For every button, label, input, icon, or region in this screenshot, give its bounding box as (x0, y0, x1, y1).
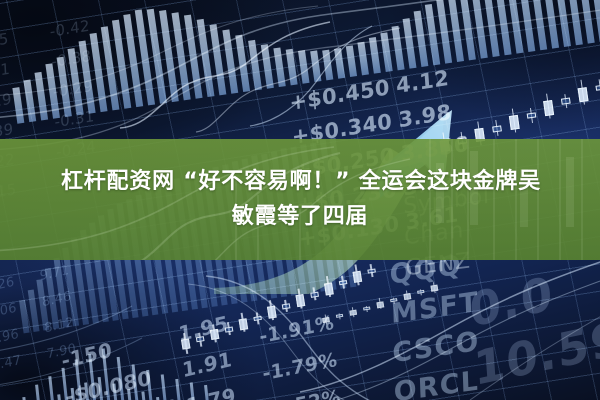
candlestick-body (363, 306, 370, 310)
candlestick-body (282, 303, 291, 309)
candlestick-body (267, 306, 277, 319)
candlestick-body (295, 294, 305, 307)
candlestick-body (527, 113, 537, 119)
candlestick-body (336, 314, 343, 318)
candlestick-body (349, 309, 357, 316)
candlestick-body (181, 339, 190, 350)
candlestick-body (253, 316, 262, 321)
candlestick-body (376, 301, 384, 308)
candlestick-body (578, 87, 589, 103)
candlestick-body (509, 115, 520, 130)
candlestick-body (390, 298, 397, 302)
headline-text-block: 杠杆配资网 “好不容易啊！” 全运会这块金牌吴 敏霞等了四届 (0, 139, 600, 260)
candlestick-body (403, 293, 411, 300)
candlestick-body (210, 329, 219, 340)
candlestick-body (322, 317, 330, 323)
candlestick-body (196, 337, 205, 343)
headline-line-1: 杠杆配资网 “好不容易啊！” 全运会这块金牌吴 (59, 168, 541, 196)
candlestick-body (543, 100, 554, 116)
stock-banner-image: -$0.15-0.42-$0.31-0.38-$0.19-0.29-$0.39-… (0, 0, 600, 400)
candlestick-body (595, 84, 600, 91)
candlestick-body (492, 125, 502, 132)
candlestick-body (239, 318, 249, 330)
candlestick-body (561, 98, 571, 105)
candlestick-body (225, 326, 234, 332)
headline-line-2: 敏霞等了四届 (232, 203, 369, 231)
